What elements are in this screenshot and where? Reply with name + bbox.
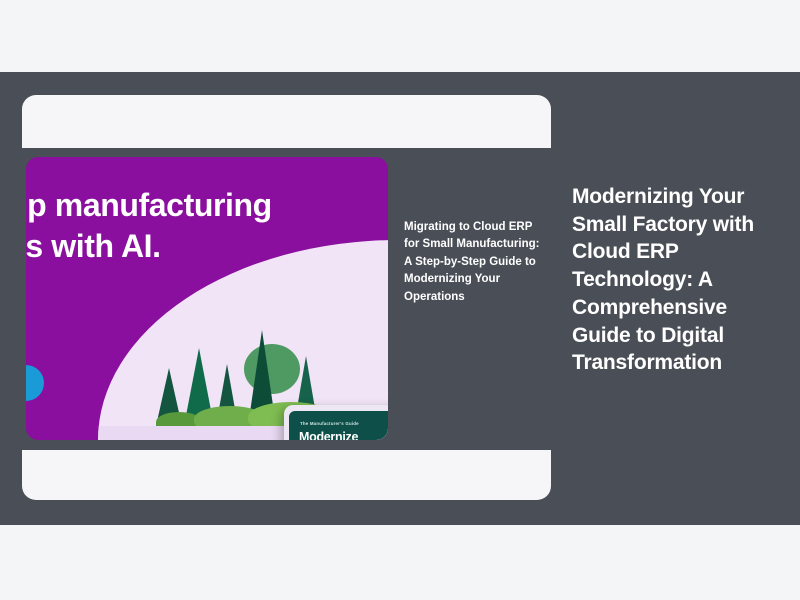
- blue-badge-icon: [26, 365, 44, 401]
- ebook-tablet-mockup: The Manufacturer's Guide Modernize Comme…: [284, 405, 388, 440]
- butterfly-icon: [220, 258, 242, 272]
- ebook-title: Modernize Commercial Operations: [299, 430, 388, 440]
- page-root: up manufacturing es with AI. The Manufac…: [0, 0, 800, 600]
- ebook-eyebrow: The Manufacturer's Guide: [300, 421, 359, 426]
- promo-banner[interactable]: up manufacturing es with AI. The Manufac…: [26, 157, 388, 440]
- ebook-title-line1: Modernize: [299, 430, 358, 440]
- butterfly-wing-right: [229, 256, 244, 272]
- promo-headline-line1: up manufacturing: [26, 187, 272, 223]
- ebook-cover: The Manufacturer's Guide Modernize Comme…: [289, 411, 388, 440]
- promo-caption: Migrating to Cloud ERP for Small Manufac…: [404, 219, 544, 306]
- article-title: Modernizing Your Small Factory with Clou…: [572, 183, 777, 377]
